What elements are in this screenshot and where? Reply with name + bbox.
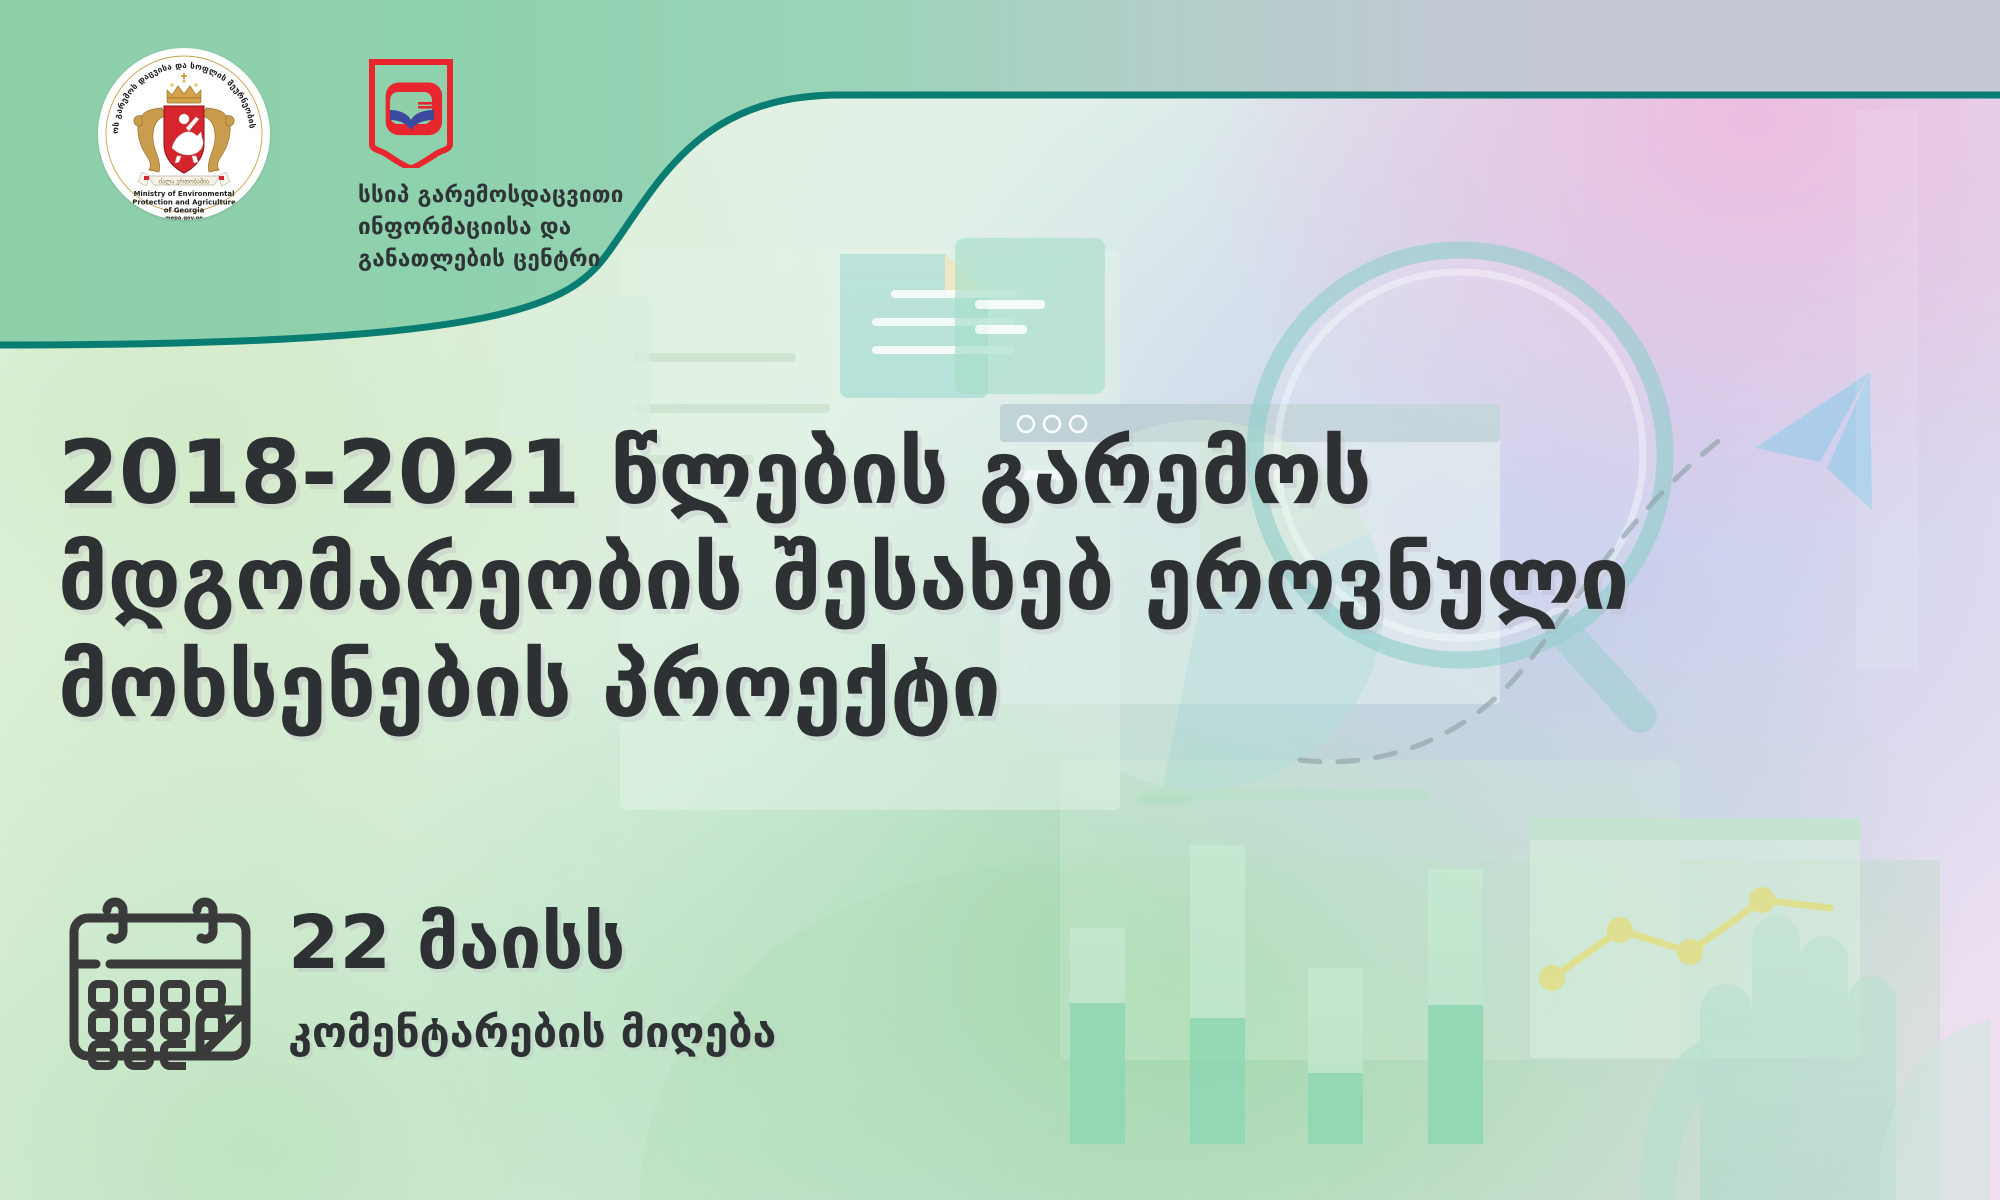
georgia-coat-of-arms-icon: საქართველოს გარემოს დაცვისა და სოფლის მე… <box>98 48 270 220</box>
decor-bar-chart <box>1070 790 1483 1144</box>
deadline-label: კომენტარების მიღება <box>288 1008 776 1058</box>
ceic-name-line1: სსიპ გარემოსდაცვითი <box>358 180 688 212</box>
emblem-website: mepa.gov.ge <box>165 216 203 220</box>
logo-group: საქართველოს გარემოს დაცვისა და სოფლის მე… <box>0 0 720 300</box>
deadline-block: 22 მაისს კომენტარების მიღება <box>60 880 960 1100</box>
decor-bar-group <box>1070 845 1483 1144</box>
ceic-name-line2: ინფორმაციისა და <box>358 212 688 244</box>
ceic-shield-book-logo-icon <box>368 58 454 168</box>
decor-line-series <box>1552 900 1830 978</box>
deadline-date: 22 მაისს <box>288 900 626 986</box>
ceic-name-line3: განათლების ცენტრი <box>358 244 688 276</box>
emblem-caption-line3: of Georgia <box>164 207 205 215</box>
title-line-3: მოხსენების პროექტი <box>58 633 1938 739</box>
title-line-1: 2018-2021 წლების გარემოს <box>58 420 1938 526</box>
page-title: 2018-2021 წლების გარემოს მდგომარეობის შე… <box>58 420 1938 739</box>
emblem-caption-line2: Protection and Agriculture <box>132 198 236 206</box>
calendar-icon <box>60 888 260 1078</box>
poster-canvas: საქართველოს გარემოს დაცვისა და სოფლის მე… <box>0 0 2000 1200</box>
decor-line-chart-card <box>1530 818 1860 1058</box>
ministry-emblem: საქართველოს გარემოს დაცვისა და სოფლის მე… <box>98 48 270 220</box>
emblem-caption-line1: Ministry of Environmental <box>134 190 235 198</box>
decor-hand <box>1640 916 1990 1200</box>
title-line-2: მდგომარეობის შესახებ ეროვნული <box>58 526 1938 632</box>
svg-text:ძალა ერთობაშია: ძალა ერთობაშია <box>159 179 209 186</box>
ceic-name: სსიპ გარემოსდაცვითი ინფორმაციისა და განა… <box>358 180 688 276</box>
